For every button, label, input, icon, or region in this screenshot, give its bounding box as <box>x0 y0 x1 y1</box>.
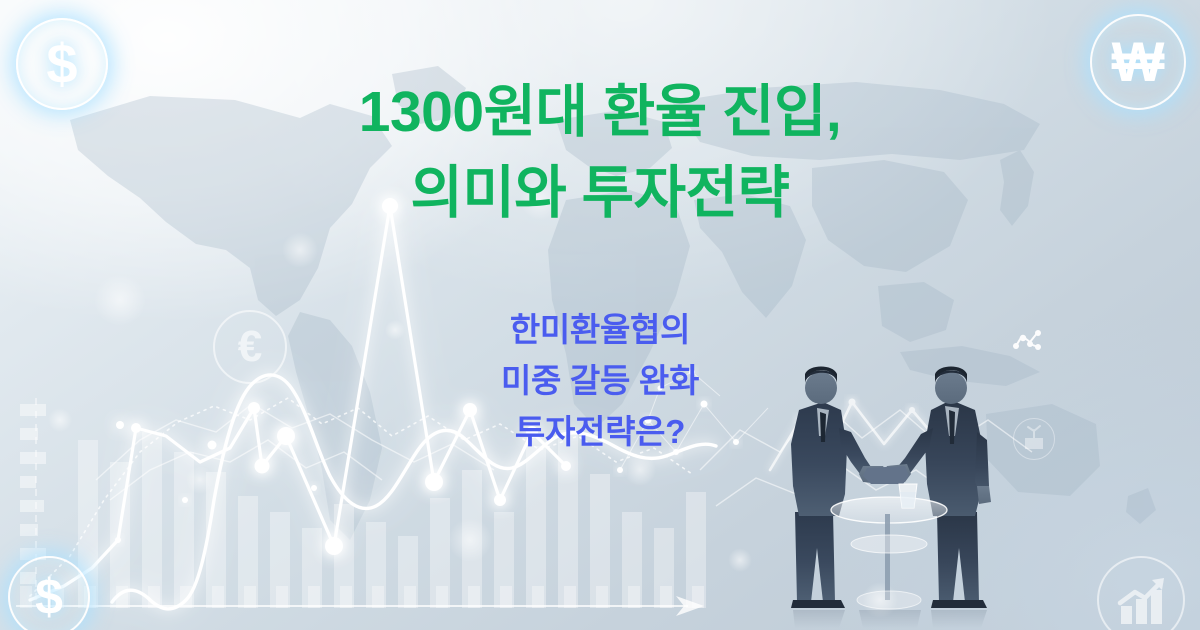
bar-chart-up-glyph <box>1097 556 1185 630</box>
baseline-tick-band <box>20 586 704 608</box>
euro-glyph: € <box>213 310 287 384</box>
poster-canvas: $ ₩ € $ <box>0 0 1200 630</box>
network-icon <box>1012 328 1048 354</box>
page-title: 1300원대 환율 진입, 의미와 투자전략 <box>0 72 1200 234</box>
bank-glyph <box>1013 418 1055 460</box>
floor-reflection <box>793 610 987 628</box>
bank-icon <box>1013 418 1055 460</box>
dollar-icon: $ <box>8 556 90 630</box>
dollar-glyph: $ <box>8 556 90 630</box>
page-subtitle: 한미환율협의 미중 갈등 완화 투자전략은? <box>330 305 870 457</box>
euro-icon: € <box>213 310 287 384</box>
handshake-clasp <box>863 466 909 484</box>
glass-table <box>831 484 947 609</box>
bar-chart-up-icon <box>1097 556 1185 630</box>
